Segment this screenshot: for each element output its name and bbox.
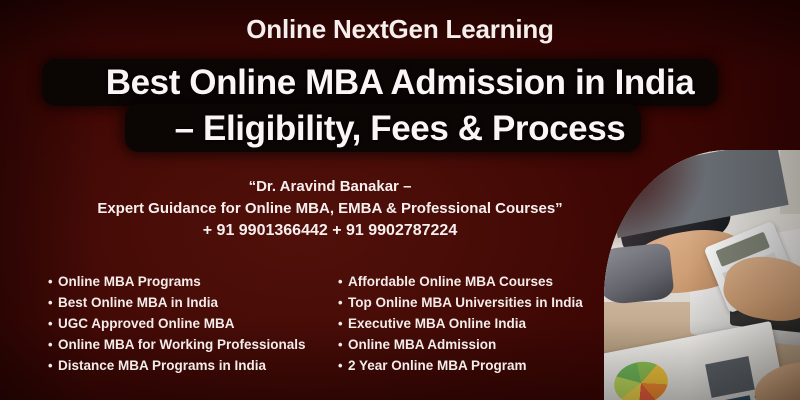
quote-line-1: “Dr. Aravind Banakar – [30, 176, 630, 198]
list-item-label: Online MBA Programs [58, 274, 201, 289]
list-item: UGC Approved Online MBA [48, 316, 306, 337]
bullet-dot-icon [338, 359, 348, 372]
list-item: Distance MBA Programs in India [48, 358, 306, 379]
photo-shirt-cuff [604, 242, 675, 305]
list-item-label: Distance MBA Programs in India [58, 358, 266, 373]
list-item: Best Online MBA in India [48, 295, 306, 316]
bullet-dot-icon [48, 317, 58, 330]
list-item-label: 2 Year Online MBA Program [348, 358, 527, 373]
bullet-dot-icon [48, 296, 58, 309]
list-item: Online MBA Programs [48, 274, 306, 295]
list-item-label: Online MBA Admission [348, 337, 496, 352]
bullet-dot-icon [338, 338, 348, 351]
list-item-label: Best Online MBA in India [58, 295, 218, 310]
contact-phone-numbers[interactable]: + 91 9901366442 + 91 9902787224 [30, 222, 630, 240]
bullet-dot-icon [338, 275, 348, 288]
list-item: Online MBA for Working Professionals [48, 337, 306, 358]
bullet-dot-icon [48, 359, 58, 372]
list-item: Affordable Online MBA Courses [338, 274, 583, 295]
list-item-label: Affordable Online MBA Courses [348, 274, 553, 289]
quote-line-2: Expert Guidance for Online MBA, EMBA & P… [30, 198, 630, 220]
list-item: 2 Year Online MBA Program [338, 358, 583, 379]
list-item: Executive MBA Online India [338, 316, 583, 337]
list-item-label: Online MBA for Working Professionals [58, 337, 306, 352]
business-photo [604, 150, 800, 400]
bullet-dot-icon [48, 275, 58, 288]
list-item: Top Online MBA Universities in India [338, 295, 583, 316]
list-item: Online MBA Admission [338, 337, 583, 358]
headline-line-2: – Eligibility, Fees & Process [0, 109, 800, 149]
brand-name: Online NextGen Learning [0, 14, 800, 45]
expert-quote: “Dr. Aravind Banakar – Expert Guidance f… [30, 176, 630, 220]
headline-line-1: Best Online MBA Admission in India [0, 63, 800, 103]
bullet-dot-icon [48, 338, 58, 351]
list-item-label: UGC Approved Online MBA [58, 316, 235, 331]
bullet-dot-icon [338, 296, 348, 309]
bullet-dot-icon [338, 317, 348, 330]
keyword-column-left: Online MBA Programs Best Online MBA in I… [48, 274, 306, 379]
keyword-column-right: Affordable Online MBA Courses Top Online… [338, 274, 583, 379]
list-item-label: Executive MBA Online India [348, 316, 526, 331]
promo-banner: Online NextGen Learning Best Online MBA … [0, 0, 800, 400]
list-item-label: Top Online MBA Universities in India [348, 295, 583, 310]
